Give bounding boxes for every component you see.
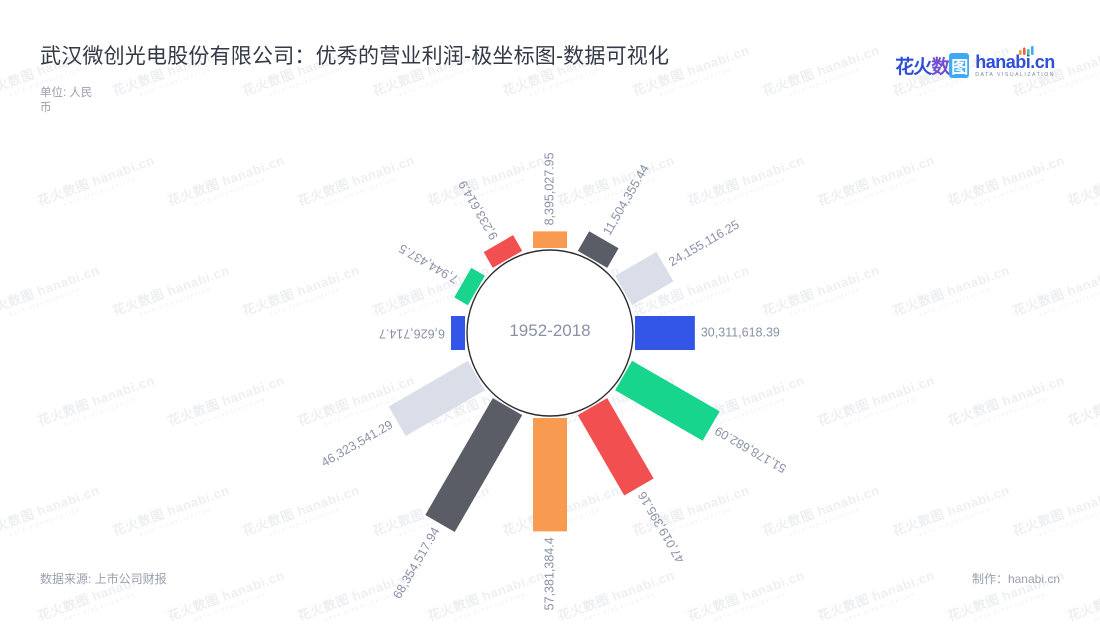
logo-char-shu: 数 xyxy=(931,52,949,79)
bar-value-label: 9,233,614.9 xyxy=(456,178,501,242)
bar-value-label: 51,178,682.09 xyxy=(712,424,788,476)
polar-bar[interactable]: 8,395,027.95 xyxy=(533,231,567,248)
page-title: 武汉微创光电股份有限公司：优秀的营业利润-极坐标图-数据可视化 xyxy=(40,40,669,70)
polar-chart-svg: 8,395,027.9511,504,355.4424,155,116.2530… xyxy=(0,0,1100,620)
bar-value-label: 11,504,355.44 xyxy=(600,162,652,237)
bar-value-label: 24,155,116.25 xyxy=(666,217,741,269)
center-range-label: 1952-2018 xyxy=(450,321,650,341)
polar-bar[interactable]: 68,354,517.94 xyxy=(425,398,522,532)
bar-value-label: 8,395,027.95 xyxy=(542,152,556,225)
logo-char-tu: 图 xyxy=(949,53,969,78)
unit-label: 单位: 人民币 xyxy=(40,86,96,116)
logo-chinese-wordmark: 花 火 数 图 xyxy=(895,52,969,79)
data-source-label: 数据来源: 上市公司财报 xyxy=(40,570,167,587)
bar-value-label: 7,944,437.5 xyxy=(397,241,461,286)
bar-value-label: 47,019,395.16 xyxy=(635,489,687,565)
polar-bar-chart[interactable]: 8,395,027.9511,504,355.4424,155,116.2530… xyxy=(0,0,1100,620)
polar-bar[interactable]: 51,178,682.09 xyxy=(615,361,720,441)
credit-label: 制作：hanabi.cn xyxy=(972,570,1060,587)
logo-char-hua: 花 xyxy=(895,52,913,79)
logo-latin-wordmark: hanabi.cn DATA VISUALIZATION xyxy=(975,53,1055,78)
logo-domain: hanabi.cn xyxy=(975,53,1055,71)
sparkle-icon xyxy=(1017,46,1039,55)
polar-bar[interactable]: 46,323,541.29 xyxy=(389,361,485,436)
polar-bar[interactable]: 57,381,384.4 xyxy=(533,418,567,531)
logo-char-huo: 火 xyxy=(913,52,931,79)
bar-value-label: 30,311,618.39 xyxy=(701,325,780,339)
brand-logo[interactable]: 花 火 数 图 hanabi.cn DATA VISUALIZATION xyxy=(895,52,1055,79)
bar-value-label: 6,626,714.7 xyxy=(379,327,445,341)
chart-footer: 数据来源: 上市公司财报 制作：hanabi.cn xyxy=(0,558,1100,620)
bar-value-label: 46,323,541.29 xyxy=(319,418,395,470)
polar-bar[interactable]: 47,019,395.16 xyxy=(578,398,654,495)
logo-tagline: DATA VISUALIZATION xyxy=(975,73,1055,78)
